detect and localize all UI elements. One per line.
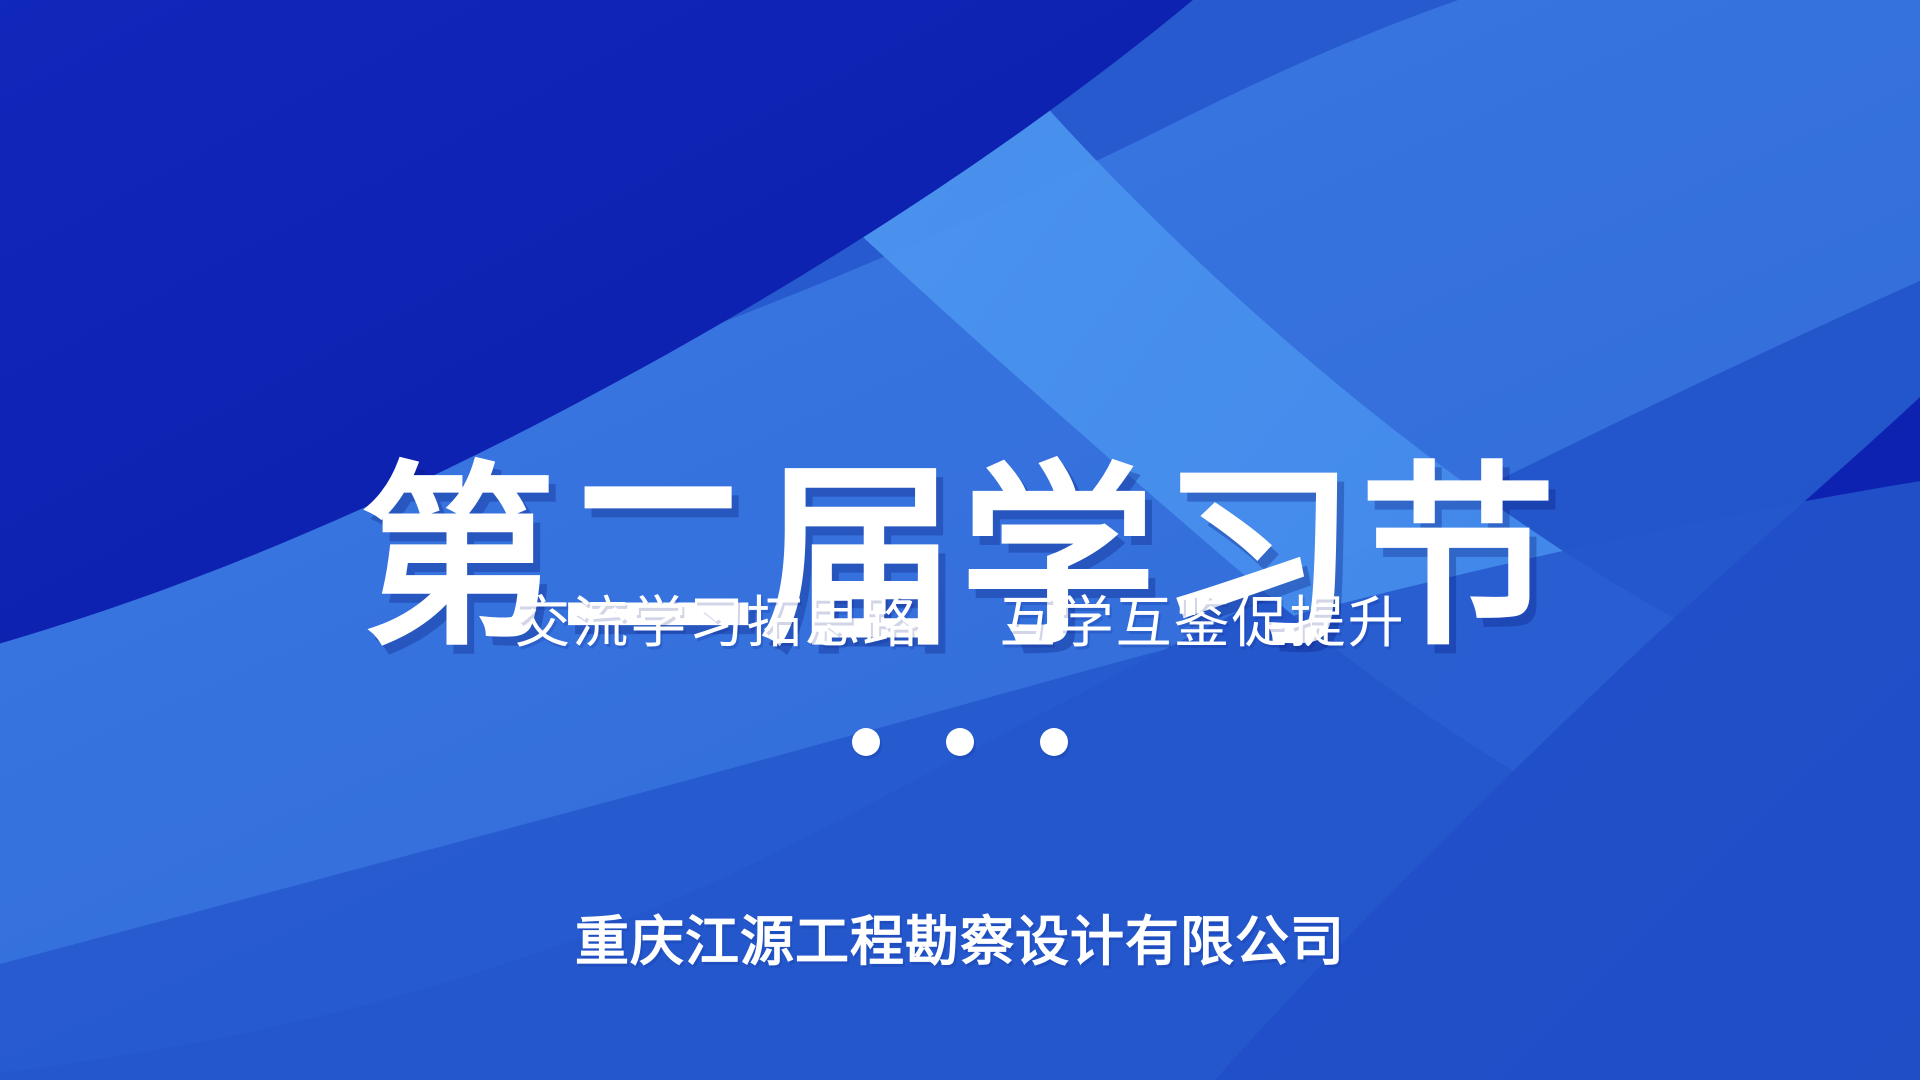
main-title-block: 第二届学习节 [0,330,1920,789]
poster-canvas: 第二届学习节 交流学习拓思路 互学互鉴促提升 重庆江源工程勘察设计有限公司 [0,0,1920,1080]
divider-dot-icon-1 [852,728,880,756]
divider-dot-icon-2 [946,728,974,756]
subtitle-block: 交流学习拓思路 互学互鉴促提升 [0,590,1920,657]
dot-divider [0,728,1920,756]
company-name: 重庆江源工程勘察设计有限公司 [575,910,1345,975]
subtitle-text: 交流学习拓思路 互学互鉴促提升 [514,590,1405,657]
poster-content: 第二届学习节 交流学习拓思路 互学互鉴促提升 重庆江源工程勘察设计有限公司 [0,0,1920,1080]
divider-dot-icon-3 [1040,728,1068,756]
company-block: 重庆江源工程勘察设计有限公司 [0,910,1920,975]
